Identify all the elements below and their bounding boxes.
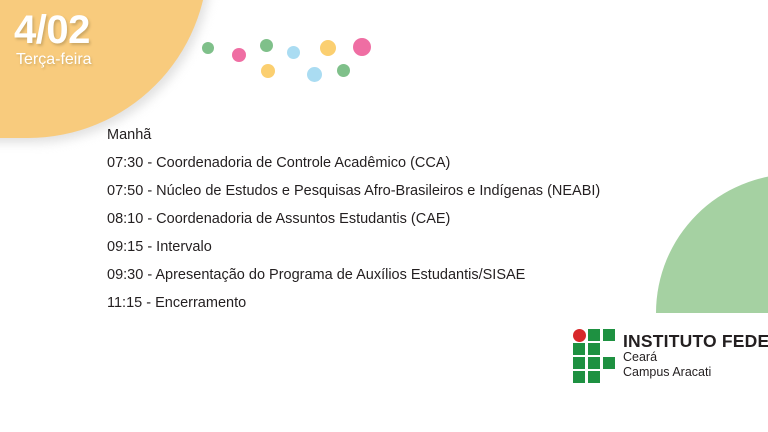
agenda-items-group: 07:30 - Coordenadoria de Controle Acadêm…	[107, 156, 707, 311]
dot-pink-1	[232, 48, 246, 62]
dot-green-2	[260, 39, 273, 52]
dot-blue-2	[307, 67, 322, 82]
date-number: 4/02	[14, 10, 90, 50]
dot-pink-2	[353, 38, 371, 56]
dot-yellow-2	[320, 40, 336, 56]
date-badge-text-group: 4/02 Terça-feira	[0, 0, 208, 138]
if-logo-mark-icon	[573, 329, 615, 384]
logo-state-line: Ceará	[623, 350, 768, 365]
agenda-item: 09:30 - Apresentação do Programa de Auxí…	[107, 268, 707, 283]
dot-green-1	[202, 42, 214, 54]
agenda-item: 09:15 - Intervalo	[107, 240, 707, 255]
logo-campus-line: Campus Aracati	[623, 365, 768, 380]
agenda-heading: Manhã	[107, 128, 707, 143]
dot-yellow-1	[261, 64, 275, 78]
date-weekday: Terça-feira	[16, 52, 92, 68]
agenda-item: 08:10 - Coordenadoria de Assuntos Estuda…	[107, 212, 707, 227]
dot-blue-1	[287, 46, 300, 59]
agenda-item: 07:50 - Núcleo de Estudos e Pesquisas Af…	[107, 184, 707, 199]
agenda-list: Manhã 07:30 - Coordenadoria de Controle …	[107, 128, 707, 324]
logo-title: INSTITUTO FEDERAL	[623, 332, 768, 350]
agenda-item: 11:15 - Encerramento	[107, 296, 707, 311]
agenda-item: 07:30 - Coordenadoria de Controle Acadêm…	[107, 156, 707, 171]
dot-green-3	[337, 64, 350, 77]
logo-text-group: INSTITUTO FEDERAL Ceará Campus Aracati	[623, 332, 768, 380]
slide-canvas: 4/02 Terça-feira Manhã 07:30 - Coordenad…	[0, 0, 768, 432]
